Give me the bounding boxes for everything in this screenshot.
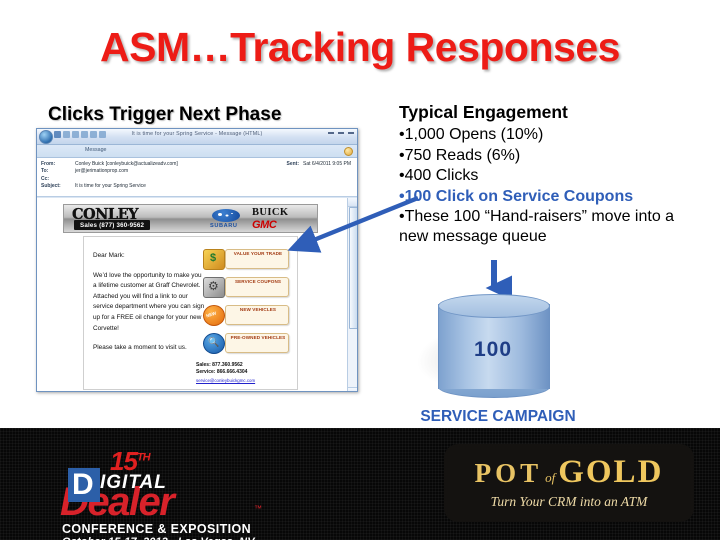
new-badge-icon bbox=[203, 305, 225, 326]
engagement-item-reads: •750 Reads (6%) bbox=[399, 146, 689, 167]
logo-digital-word: IGITAL bbox=[100, 472, 167, 494]
maximize-icon[interactable] bbox=[338, 132, 344, 134]
logo-d-letter: D bbox=[72, 468, 94, 502]
coupon-label: SERVICE COUPONS bbox=[229, 279, 287, 285]
pot-of-gold-tagline: Turn Your CRM into an ATM bbox=[444, 494, 694, 510]
window-titlebar[interactable]: It is time for your Spring Service - Mes… bbox=[37, 129, 357, 145]
cylinder-top-ellipse bbox=[438, 294, 550, 318]
header-row-cc: Cc: bbox=[37, 176, 357, 183]
engagement-item-clicks: •400 Clicks bbox=[399, 166, 689, 187]
sent-label: Sent: bbox=[287, 161, 300, 167]
engagement-panel: Typical Engagement •1,000 Opens (10%) •7… bbox=[399, 102, 689, 246]
scroll-down-icon[interactable] bbox=[348, 387, 357, 392]
conference-dates: October 15-17, 2013 · Las Vegas, NV bbox=[62, 536, 255, 548]
header-row-to: To: jer@jerimationprop.com bbox=[37, 168, 357, 175]
letter-paragraph-1: We’d love the opportunity to make you a … bbox=[93, 271, 205, 335]
window-controls[interactable] bbox=[328, 132, 354, 134]
ribbon-bar[interactable]: Message bbox=[37, 145, 357, 158]
cc-value bbox=[75, 176, 357, 183]
pot-of-gold-logo: POTofGOLD Turn Your CRM into an ATM bbox=[444, 444, 694, 522]
close-icon[interactable] bbox=[348, 132, 354, 134]
logo-ordinal-suffix: TH bbox=[137, 451, 150, 463]
coupon-label: PRE-OWNED VEHICLES bbox=[229, 335, 287, 341]
coupon-label: NEW VEHICLES bbox=[229, 307, 287, 313]
trade-in-icon bbox=[203, 249, 225, 270]
email-client-window[interactable]: It is time for your Spring Service - Mes… bbox=[36, 128, 358, 392]
engagement-item-hand-raisers: •These 100 “Hand-raisers” move into a ne… bbox=[399, 207, 689, 246]
from-label: From: bbox=[41, 161, 75, 168]
letter-card: Dear Mark: We’d love the opportunity to … bbox=[83, 236, 298, 390]
arrow-to-service-coupons bbox=[276, 190, 426, 260]
page-title: ASM…Tracking Responses bbox=[0, 24, 720, 71]
sent-timestamp: Sent:Sat 6/4/2011 9:05 PM bbox=[287, 161, 352, 167]
footer-service-phone: Service: 866.666.4304 bbox=[196, 369, 291, 376]
to-value: jer@jerimationprop.com bbox=[75, 168, 357, 175]
conference-subtitle: CONFERENCE & EXPOSITION bbox=[62, 522, 251, 536]
logo-trademark: ™ bbox=[254, 504, 262, 513]
of-word: of bbox=[545, 470, 555, 485]
window-title-text: It is time for your Spring Service - Mes… bbox=[37, 131, 357, 137]
coupon-button-new-vehicles[interactable]: NEW VEHICLES bbox=[203, 303, 289, 327]
gold-word: GOLD bbox=[558, 454, 663, 490]
left-column-heading: Clicks Trigger Next Phase bbox=[48, 104, 281, 126]
pot-word: POT bbox=[475, 458, 543, 488]
footer-banner: 15TH Dealer D IGITAL ™ CONFERENCE & EXPO… bbox=[0, 428, 720, 540]
service-gear-icon bbox=[203, 277, 225, 298]
subject-label: Subject: bbox=[41, 183, 75, 190]
subaru-logo-icon bbox=[212, 209, 240, 222]
service-campaign-cylinder: 100 bbox=[438, 294, 548, 398]
engagement-heading: Typical Engagement bbox=[399, 102, 689, 123]
magnifier-icon bbox=[203, 333, 225, 354]
footer-sales-phone: Sales: 877.360.9562 bbox=[196, 362, 291, 369]
footer-email-link[interactable]: service@conleybuickgmc.com bbox=[196, 378, 291, 383]
slide-canvas: ASM…Tracking Responses Clicks Trigger Ne… bbox=[0, 0, 720, 540]
coupon-button-pre-owned-vehicles[interactable]: PRE-OWNED VEHICLES bbox=[203, 331, 289, 355]
tab-message[interactable]: Message bbox=[85, 147, 107, 153]
pot-of-gold-wordmark: POTofGOLD bbox=[444, 454, 694, 491]
engagement-item-opens: •1,000 Opens (10%) bbox=[399, 125, 689, 146]
cc-label: Cc: bbox=[41, 176, 75, 183]
gmc-wordmark: GMC bbox=[252, 219, 276, 231]
service-campaign-label: SERVICE CAMPAIGN bbox=[398, 408, 598, 426]
sent-value: Sat 6/4/2011 9:05 PM bbox=[303, 161, 351, 167]
digital-dealer-logo: 15TH Dealer D IGITAL ™ CONFERENCE & EXPO… bbox=[40, 446, 290, 526]
cylinder-value: 100 bbox=[438, 338, 548, 362]
to-label: To: bbox=[41, 168, 75, 175]
coupon-button-service-coupons[interactable]: SERVICE COUPONS bbox=[203, 275, 289, 299]
subaru-wordmark: SUBARU bbox=[210, 223, 238, 229]
minimize-icon[interactable] bbox=[328, 132, 334, 134]
help-icon[interactable] bbox=[344, 147, 353, 156]
letter-greeting: Dear Mark: bbox=[93, 251, 205, 262]
letter-text: Dear Mark: We’d love the opportunity to … bbox=[93, 251, 205, 363]
letter-footer-contacts: Sales: 877.360.9562 Service: 866.666.430… bbox=[196, 362, 291, 383]
coupon-button-group[interactable]: VALUE YOUR TRADE SERVICE COUPONS NEW VEH… bbox=[203, 247, 289, 359]
letter-paragraph-2: Please take a moment to visit us. bbox=[93, 343, 205, 354]
engagement-item-service-coupon-clicks: •100 Click on Service Coupons bbox=[399, 187, 689, 208]
dealer-sales-phone: Sales (877) 360-9562 bbox=[74, 220, 150, 230]
